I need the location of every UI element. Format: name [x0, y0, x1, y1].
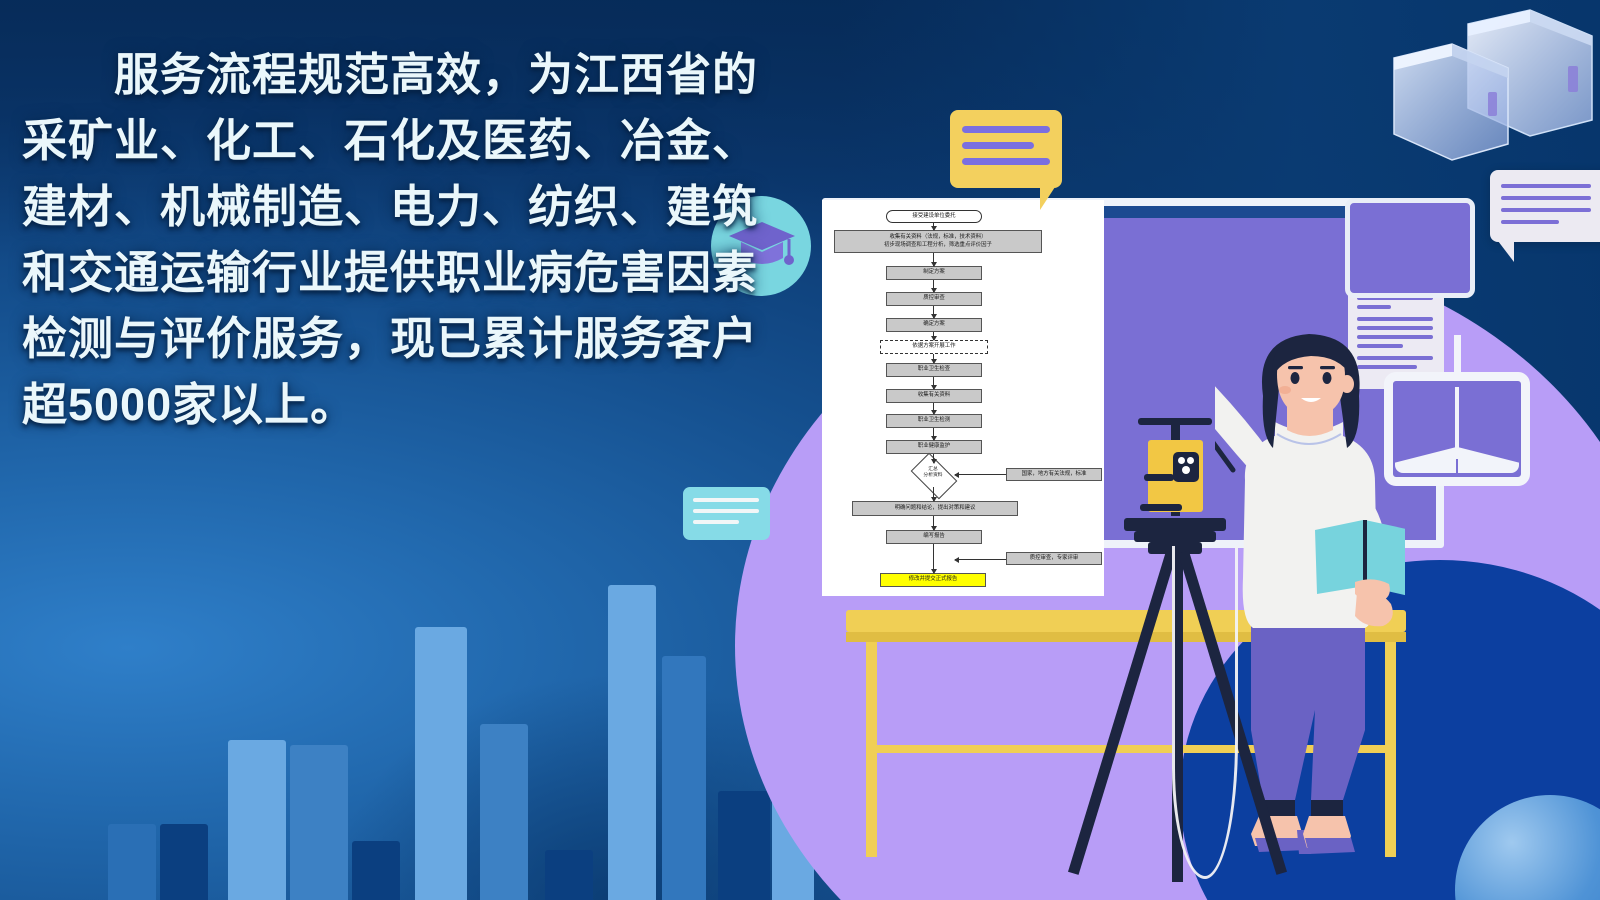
flowchart-arrow: [933, 306, 934, 318]
flowchart-arrow: [933, 403, 934, 414]
page-headline: 服务流程规范高效，为江西省的采矿业、化工、石化及医药、冶金、建材、机械制造、电力…: [22, 42, 782, 438]
chart-bar: [160, 824, 208, 900]
flowchart-node: 编写报告: [886, 530, 982, 544]
flowchart-arrow: [933, 487, 934, 501]
open-book-icon: [1384, 372, 1530, 486]
chart-bar: [290, 745, 348, 900]
flowchart-node: 质控审查: [886, 292, 982, 306]
air-sampler-on-tripod: [1110, 418, 1240, 878]
flowchart-connector: [955, 559, 1006, 560]
chart-bar: [718, 791, 770, 900]
flowchart-arrow: [933, 516, 934, 530]
flowchart-node: 依据方案开展工作: [880, 340, 988, 354]
chart-bar: [662, 656, 706, 900]
flowchart-node: 职业卫生检测: [886, 414, 982, 428]
teal-note-card-icon: [683, 487, 770, 540]
flowchart-arrow: [933, 377, 934, 389]
flowchart-node: 收集有关资料: [886, 389, 982, 403]
book-page-right: [1458, 447, 1519, 473]
workflow-flowchart: 接受建设单位委托收集有关资料（法规，标准，技术资料） 初步现场调查和工程分析，筛…: [822, 200, 1104, 596]
decorative-bar-chart: [0, 480, 820, 900]
flowchart-node: 确定方案: [886, 318, 982, 332]
chart-bar: [415, 627, 467, 900]
flowchart-arrow: [933, 354, 934, 363]
chart-bar: [228, 740, 286, 900]
teacher-presenter: [1215, 330, 1405, 860]
flowchart-decision-label: 汇总 分析资料: [910, 467, 956, 479]
chart-bar: [480, 724, 528, 900]
sampler-cable: [1172, 546, 1238, 879]
flowchart-arrow: [933, 332, 934, 340]
flowchart-arrow: [933, 544, 934, 573]
flowchart-node: 明确问题和结论，提出对策和建议: [852, 501, 1018, 516]
flowchart-connector: [955, 474, 1006, 475]
flowchart-node: 接受建设单位委托: [886, 210, 982, 223]
flowchart-node: 国家，地方有关法规，标准: [1006, 468, 1102, 481]
chart-bar: [608, 585, 656, 900]
flowchart-arrow: [933, 280, 934, 292]
book-stand: [1454, 335, 1461, 381]
flowchart-node: 职业卫生检查: [886, 363, 982, 377]
flowchart-arrow: [933, 253, 934, 266]
sampler-display: [1173, 452, 1199, 482]
stacked-books-3d-icon: [1380, 8, 1600, 188]
chart-bar: [352, 841, 400, 900]
flowchart-node: 质控审查，专家评审: [1006, 552, 1102, 565]
flowchart-arrow: [933, 454, 934, 463]
monitor-icon: [1345, 198, 1475, 298]
chart-bar: [545, 850, 593, 900]
flowchart-node: 修改并提交正式报告: [880, 573, 986, 587]
flowchart-arrow: [933, 428, 934, 440]
poster-stage: 接受建设单位委托收集有关资料（法规，标准，技术资料） 初步现场调查和工程分析，筛…: [0, 0, 1600, 900]
flowchart-node: 收集有关资料（法规，标准，技术资料） 初步现场调查和工程分析，筛选重点评价因子: [834, 230, 1042, 253]
speech-bubble-yellow-icon: [950, 110, 1062, 188]
flowchart-arrow: [933, 223, 934, 230]
chart-bar: [108, 824, 156, 900]
flowchart-node: 职业健康监护: [886, 440, 982, 454]
flowchart-node: 制定方案: [886, 266, 982, 280]
